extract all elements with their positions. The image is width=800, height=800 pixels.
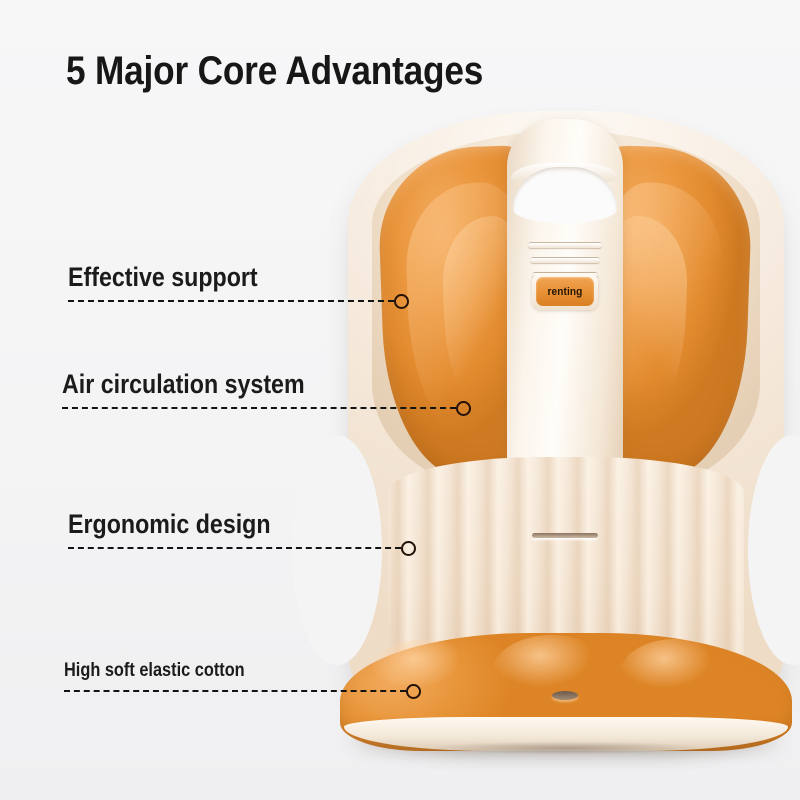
callout-air-circulation-system: Air circulation system	[62, 349, 480, 409]
waist-cutout-left	[292, 435, 382, 665]
panel-slot	[532, 533, 598, 538]
callout-label-effective-support: Effective support	[68, 262, 258, 292]
leader-line-ergonomic-design	[68, 547, 401, 549]
infographic-canvas: 5 Major Core Advantages renting	[0, 0, 800, 800]
callout-effective-support: Effective support	[68, 242, 418, 302]
vent-slot	[530, 257, 600, 263]
leader-marker-high-soft-elastic-cotton	[406, 684, 421, 699]
callout-ergonomic-design: Ergonomic design	[68, 489, 425, 549]
callout-label-air-circulation-system: Air circulation system	[62, 369, 305, 399]
callout-label-ergonomic-design: Ergonomic design	[68, 509, 271, 539]
brand-badge: renting	[536, 277, 594, 306]
brand-badge-label: renting	[548, 286, 583, 298]
leader-marker-effective-support	[394, 294, 409, 309]
callout-high-soft-elastic-cotton: High soft elastic cotton	[64, 632, 430, 692]
leader-line-effective-support	[68, 300, 394, 302]
leader-marker-ergonomic-design	[401, 541, 416, 556]
page-title: 5 Major Core Advantages	[66, 46, 483, 96]
leader-line-high-soft-elastic-cotton	[64, 690, 406, 692]
callout-label-high-soft-elastic-cotton: High soft elastic cotton	[64, 660, 245, 682]
foam-bump	[620, 639, 730, 709]
base-vent-hole	[552, 691, 578, 700]
drop-shadow	[376, 739, 756, 757]
leader-marker-air-circulation-system	[456, 401, 471, 416]
foam-bump	[492, 635, 612, 709]
vent-slot	[528, 242, 602, 248]
leader-line-air-circulation-system	[62, 407, 456, 409]
